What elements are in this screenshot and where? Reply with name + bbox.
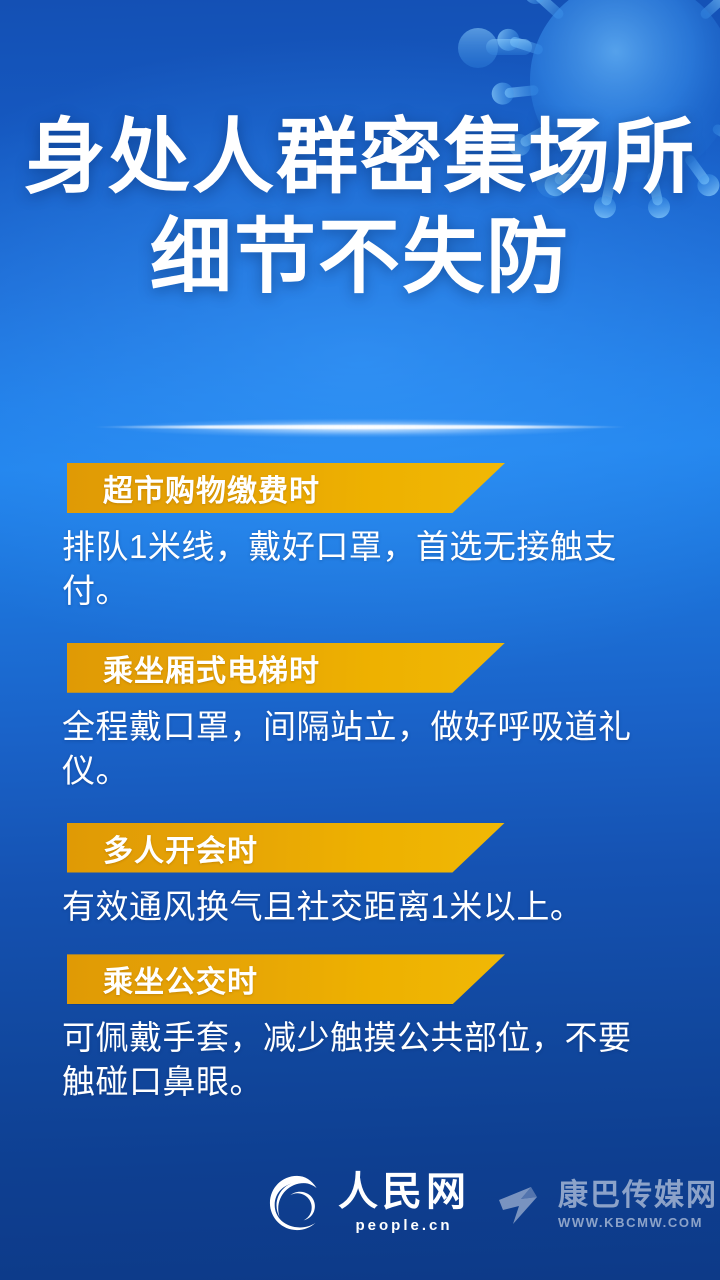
advice-section: 乘坐公交时 可佩戴手套，减少触摸公共部位，不要触碰口鼻眼。 <box>0 954 720 1104</box>
section-body-text: 有效通风换气且社交距离1米以上。 <box>62 885 658 929</box>
section-gap <box>0 928 720 954</box>
advice-section: 超市购物缴费时 排队1米线，戴好口罩，首选无接触支付。 <box>0 463 720 613</box>
advice-sections: 超市购物缴费时 排队1米线，戴好口罩，首选无接触支付。 乘坐厢式电梯时 全程戴口… <box>0 463 720 1104</box>
footer: 人民网 people.cn 康巴传媒网 WWW.KBCMW.COM <box>0 1160 720 1280</box>
title-line-2: 细节不失防 <box>0 212 720 304</box>
people-daily-wave-icon <box>268 1174 326 1232</box>
kbcmw-url: WWW.KBCMW.COM <box>558 1215 718 1230</box>
title-line-1: 身处人群密集场所 <box>0 112 720 204</box>
section-body-text: 全程戴口罩，间隔站立，做好呼吸道礼仪。 <box>62 705 658 793</box>
people-daily-en-name: people.cn <box>355 1217 452 1234</box>
divider-core <box>92 425 629 429</box>
section-banner-label: 超市购物缴费时 <box>103 466 320 510</box>
section-banner-label: 乘坐厢式电梯时 <box>103 646 320 690</box>
glow-divider <box>55 406 665 450</box>
advice-section: 多人开会时 有效通风换气且社交距离1米以上。 <box>0 823 720 929</box>
kbcmw-watermark: 康巴传媒网 WWW.KBCMW.COM <box>497 1180 718 1230</box>
people-daily-logo: 人民网 people.cn <box>268 1172 470 1234</box>
poster-root: 身处人群密集场所 细节不失防 超市购物缴费时 排队1米线，戴好口罩，首选无接触支… <box>0 0 720 1280</box>
section-banner: 乘坐厢式电梯时 <box>67 643 505 693</box>
section-banner-label: 多人开会时 <box>103 826 258 870</box>
section-body-text: 排队1米线，戴好口罩，首选无接触支付。 <box>62 525 658 613</box>
section-banner: 多人开会时 <box>67 823 505 873</box>
kbcmw-wordmark: 康巴传媒网 WWW.KBCMW.COM <box>558 1180 718 1230</box>
people-daily-cn-name: 人民网 <box>338 1172 470 1212</box>
people-daily-wordmark: 人民网 people.cn <box>338 1172 470 1234</box>
section-body-text: 可佩戴手套，减少触摸公共部位，不要触碰口鼻眼。 <box>62 1016 658 1104</box>
section-banner: 超市购物缴费时 <box>67 463 505 513</box>
section-gap <box>0 793 720 823</box>
page-title: 身处人群密集场所 细节不失防 <box>0 112 720 304</box>
section-banner: 乘坐公交时 <box>67 954 505 1004</box>
kbcmw-arrow-icon <box>497 1184 549 1226</box>
section-gap <box>0 613 720 643</box>
section-banner-label: 乘坐公交时 <box>103 957 258 1001</box>
advice-section: 乘坐厢式电梯时 全程戴口罩，间隔站立，做好呼吸道礼仪。 <box>0 643 720 793</box>
kbcmw-cn-name: 康巴传媒网 <box>558 1180 718 1212</box>
